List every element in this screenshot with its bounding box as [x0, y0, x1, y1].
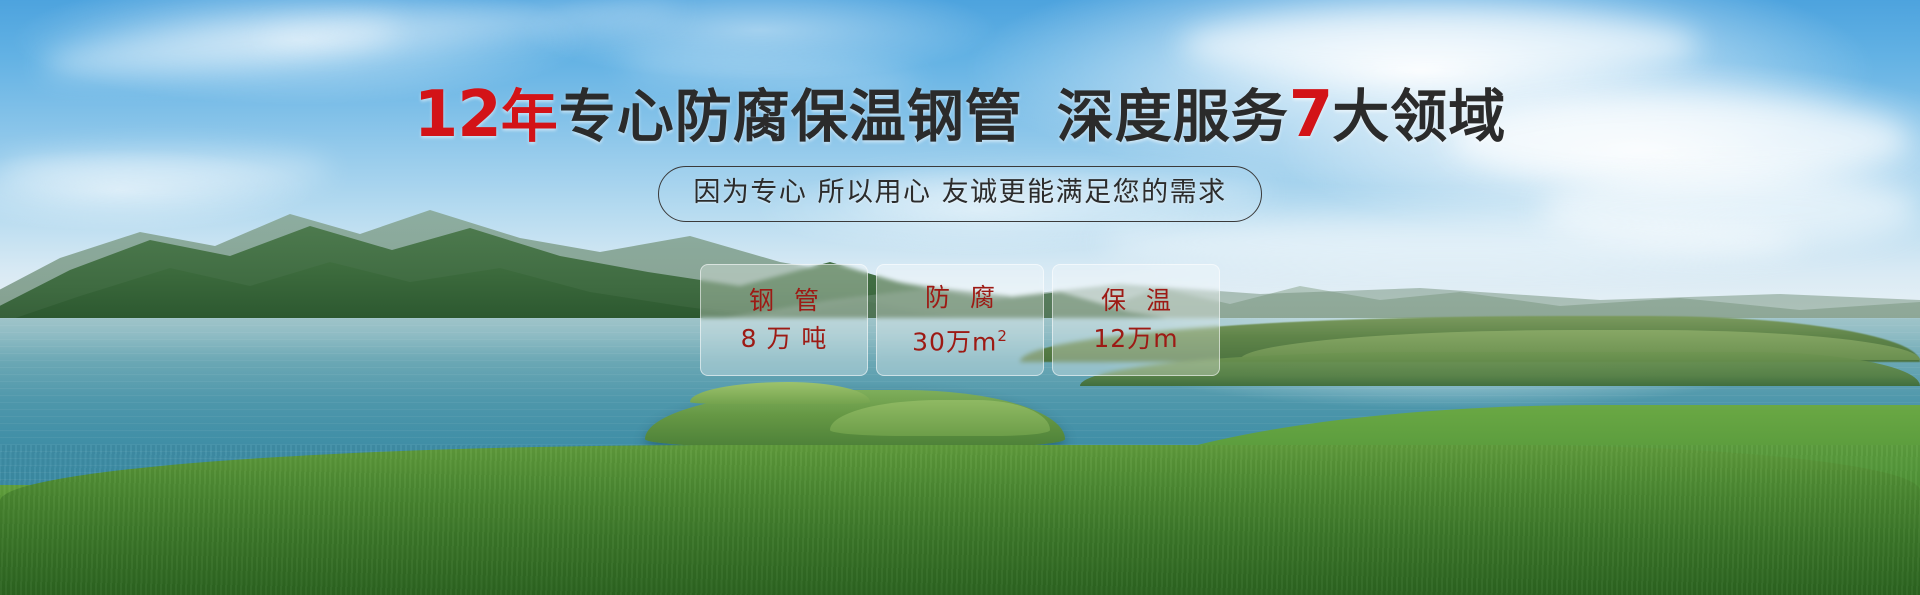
headline-number-fields: 7 — [1289, 78, 1333, 152]
hero-banner: 12年专心防腐保温钢管深度服务7大领域 因为专心 所以用心 友诚更能满足您的需求… — [0, 0, 1920, 595]
stat-card-value-main: 12万m — [1093, 324, 1178, 353]
stat-card-insulation: 保 温 12万m — [1052, 264, 1220, 376]
banner-subtitle-pill: 因为专心 所以用心 友诚更能满足您的需求 — [658, 166, 1261, 222]
headline-unit-years: 年 — [501, 84, 559, 150]
stat-card-label: 防 腐 — [919, 284, 1001, 312]
banner-subtitle-wrap: 因为专心 所以用心 友诚更能满足您的需求 — [0, 166, 1920, 222]
banner-content: 12年专心防腐保温钢管深度服务7大领域 因为专心 所以用心 友诚更能满足您的需求… — [0, 0, 1920, 595]
stat-card-label: 钢 管 — [743, 287, 825, 315]
banner-headline: 12年专心防腐保温钢管深度服务7大领域 — [0, 82, 1920, 150]
headline-number-years: 12 — [414, 78, 501, 152]
stat-card-group: 钢 管 8 万 吨 防 腐 30万m2 保 温 12万m — [0, 264, 1920, 376]
stat-card-steel-pipe: 钢 管 8 万 吨 — [700, 264, 868, 376]
stat-card-value-main: 8 万 吨 — [741, 324, 828, 353]
stat-card-value-main: 30万m — [912, 327, 997, 356]
stat-card-value: 30万m2 — [912, 322, 1008, 356]
headline-text-secondary: 深度服务 — [1057, 84, 1289, 150]
stat-card-anticorrosion: 防 腐 30万m2 — [876, 264, 1044, 376]
stat-card-value: 8 万 吨 — [741, 325, 828, 353]
stat-card-value: 12万m — [1093, 325, 1178, 353]
stat-card-label: 保 温 — [1095, 287, 1177, 315]
headline-text-tertiary: 大领域 — [1332, 84, 1506, 150]
headline-text-primary: 专心防腐保温钢管 — [559, 84, 1023, 150]
stat-card-value-superscript: 2 — [997, 327, 1008, 345]
